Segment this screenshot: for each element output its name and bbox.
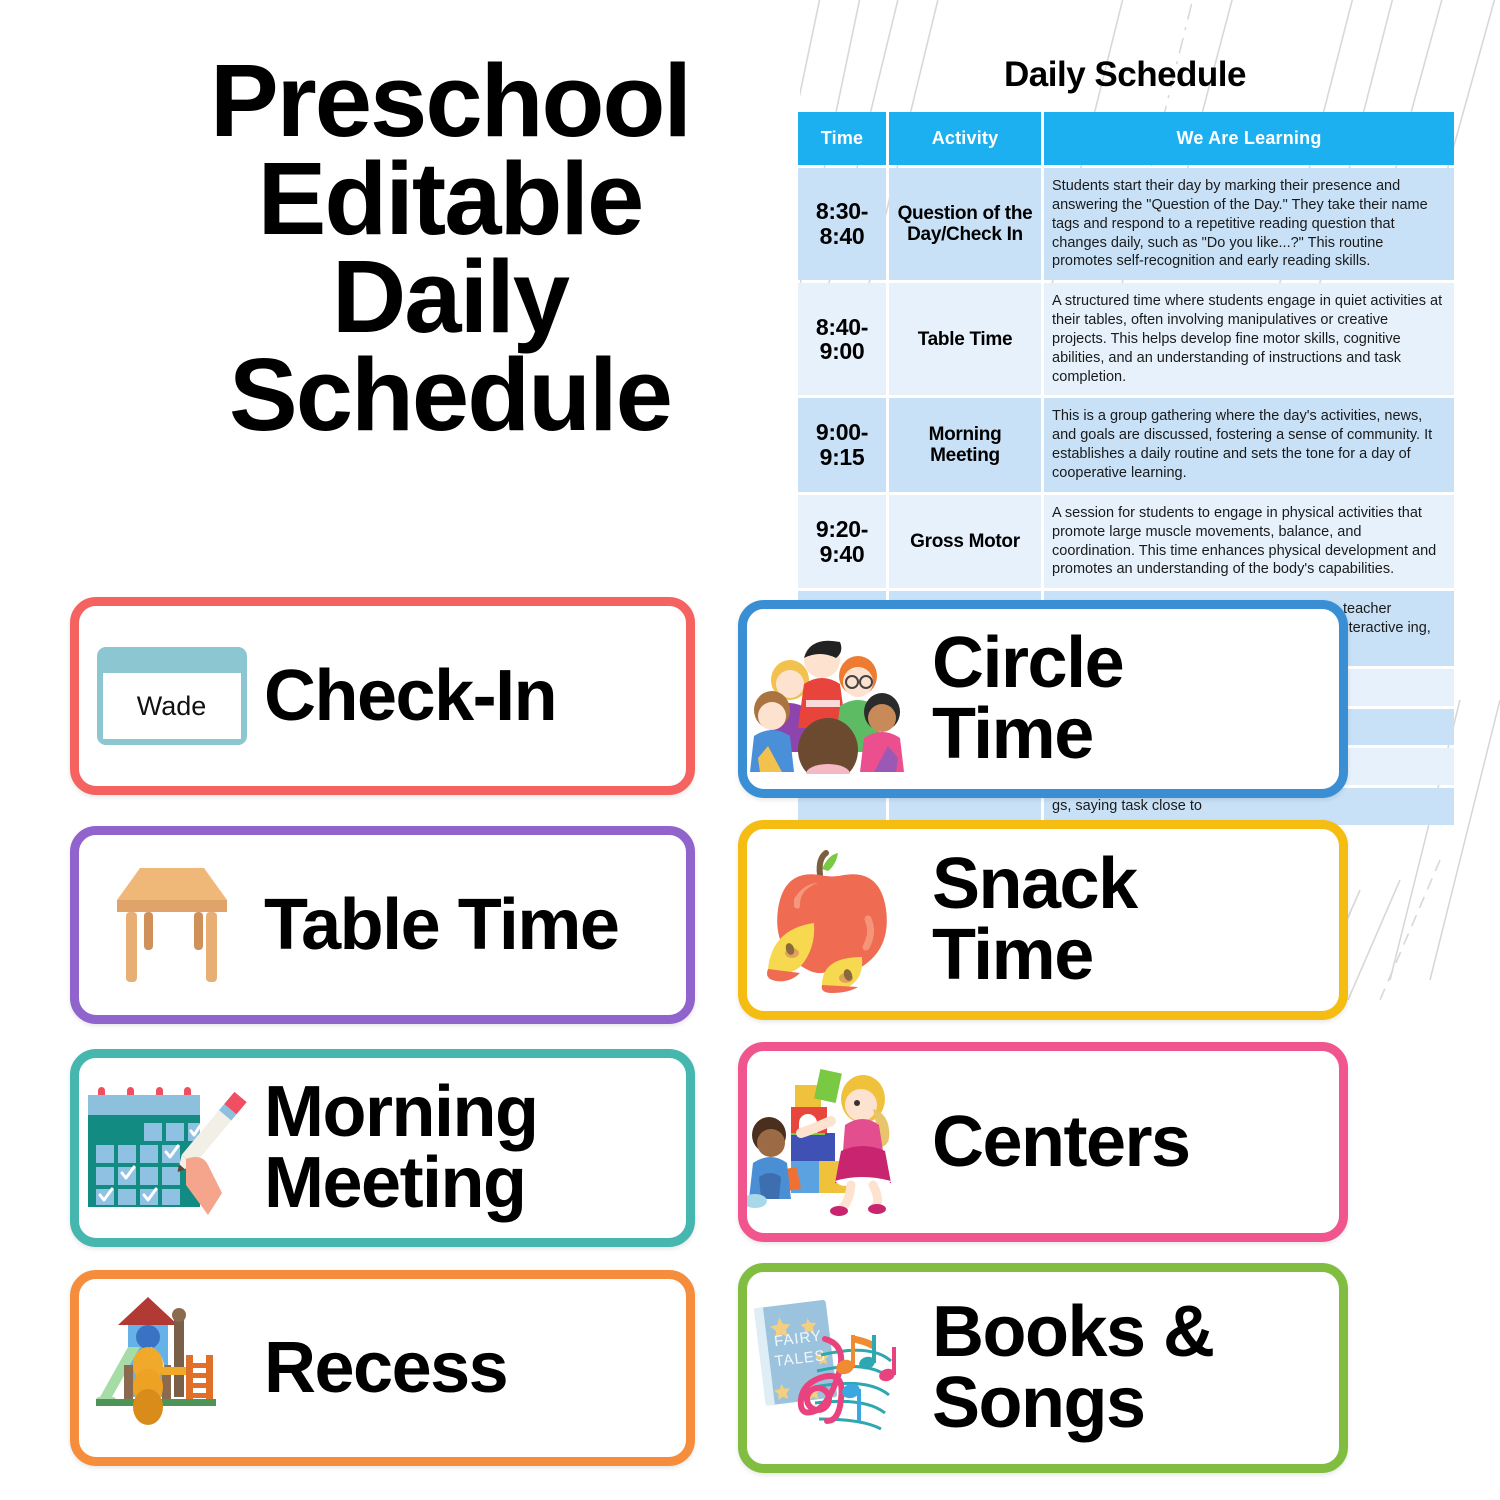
card-label: SnackTime	[932, 849, 1339, 990]
calendar-pencil-icon	[79, 1058, 264, 1238]
card-label-line: Centers	[932, 1107, 1329, 1178]
card-label: Centers	[932, 1107, 1339, 1178]
cell-time: 8:30-8:40	[798, 168, 886, 280]
schedule-card-circle-time[interactable]: CircleTime	[738, 600, 1348, 798]
table-row: 8:40-9:00Table TimeA structured time whe…	[798, 283, 1454, 395]
schedule-card-table-time[interactable]: Table Time	[70, 826, 695, 1024]
card-label: MorningMeeting	[264, 1077, 686, 1218]
card-label: Table Time	[264, 890, 686, 961]
playground-icon	[82, 1293, 262, 1443]
building-blocks-icon	[747, 1051, 932, 1233]
card-label-line: Morning	[264, 1077, 676, 1148]
schedule-heading: Daily Schedule	[795, 55, 1455, 95]
table-row: 9:20-9:40Gross MotorA session for studen…	[798, 495, 1454, 588]
cell-learning: Students start their day by marking thei…	[1044, 168, 1454, 280]
table-header-row: Time Activity We Are Learning	[798, 112, 1454, 165]
card-label-line: Snack	[932, 849, 1329, 920]
card-label-line: Time	[932, 920, 1329, 991]
cell-activity: Question of theDay/Check In	[889, 168, 1041, 280]
page-title: Preschool Editable Daily Schedule	[140, 52, 760, 443]
schedule-card-recess[interactable]: Recess	[70, 1270, 695, 1466]
card-label: CircleTime	[932, 628, 1339, 769]
table-row: 8:30-8:40Question of theDay/Check InStud…	[798, 168, 1454, 280]
schedule-card-books-songs[interactable]: FAIRY TALES	[738, 1263, 1348, 1473]
children-group-icon	[750, 624, 930, 774]
card-label-line: Meeting	[264, 1148, 676, 1219]
cell-learning: A session for students to engage in phys…	[1044, 495, 1454, 588]
card-label-line: Table Time	[264, 890, 676, 961]
book-music-icon: FAIRY TALES	[747, 1293, 932, 1443]
cell-activity: MorningMeeting	[889, 398, 1041, 491]
card-label-line: Circle	[932, 628, 1329, 699]
title-line-1: Preschool	[140, 52, 760, 150]
apple-icon	[750, 845, 930, 995]
table-row: 9:00-9:15MorningMeetingThis is a group g…	[798, 398, 1454, 491]
cell-time: 9:20-9:40	[798, 495, 886, 588]
name-tag-icon: Wade	[79, 606, 264, 786]
title-line-4: Schedule	[140, 346, 760, 444]
column-header-activity: Activity	[889, 112, 1041, 165]
cell-activity: Gross Motor	[889, 495, 1041, 588]
card-label-line: Books &	[932, 1297, 1329, 1368]
cell-time: 9:00-9:15	[798, 398, 886, 491]
column-header-time: Time	[798, 112, 886, 165]
card-label: Books &Songs	[932, 1297, 1339, 1438]
table-icon	[82, 850, 262, 1000]
card-label: Recess	[264, 1333, 686, 1404]
card-label: Check-In	[264, 661, 686, 732]
schedule-card-snack-time[interactable]: SnackTime	[738, 820, 1348, 1020]
cell-activity: Table Time	[889, 283, 1041, 395]
table-icon	[79, 835, 264, 1015]
cell-learning: A structured time where students engage …	[1044, 283, 1454, 395]
children-group-icon	[747, 609, 932, 789]
playground-icon	[79, 1279, 264, 1457]
apple-icon	[747, 829, 932, 1011]
schedule-card-centers[interactable]: Centers	[738, 1042, 1348, 1242]
schedule-card-morning-meeting[interactable]: MorningMeeting	[70, 1049, 695, 1247]
card-label-line: Check-In	[264, 661, 676, 732]
calendar-pencil-icon	[82, 1073, 262, 1223]
column-header-learning: We Are Learning	[1044, 112, 1454, 165]
cell-learning: This is a group gathering where the day'…	[1044, 398, 1454, 491]
cell-time: 8:40-9:00	[798, 283, 886, 395]
card-label-line: Songs	[932, 1368, 1329, 1439]
name-tag-text: Wade	[103, 673, 241, 739]
schedule-card-check-in[interactable]: WadeCheck-In	[70, 597, 695, 795]
card-label-line: Recess	[264, 1333, 676, 1404]
name-tag-icon: Wade	[97, 647, 247, 745]
card-label-line: Time	[932, 699, 1329, 770]
title-line-2: Editable	[140, 150, 760, 248]
poster-canvas: Preschool Editable Daily Schedule Daily …	[0, 0, 1500, 1500]
title-line-3: Daily	[140, 248, 760, 346]
building-blocks-icon	[747, 1067, 932, 1217]
book-music-icon: FAIRY TALES	[747, 1272, 932, 1464]
